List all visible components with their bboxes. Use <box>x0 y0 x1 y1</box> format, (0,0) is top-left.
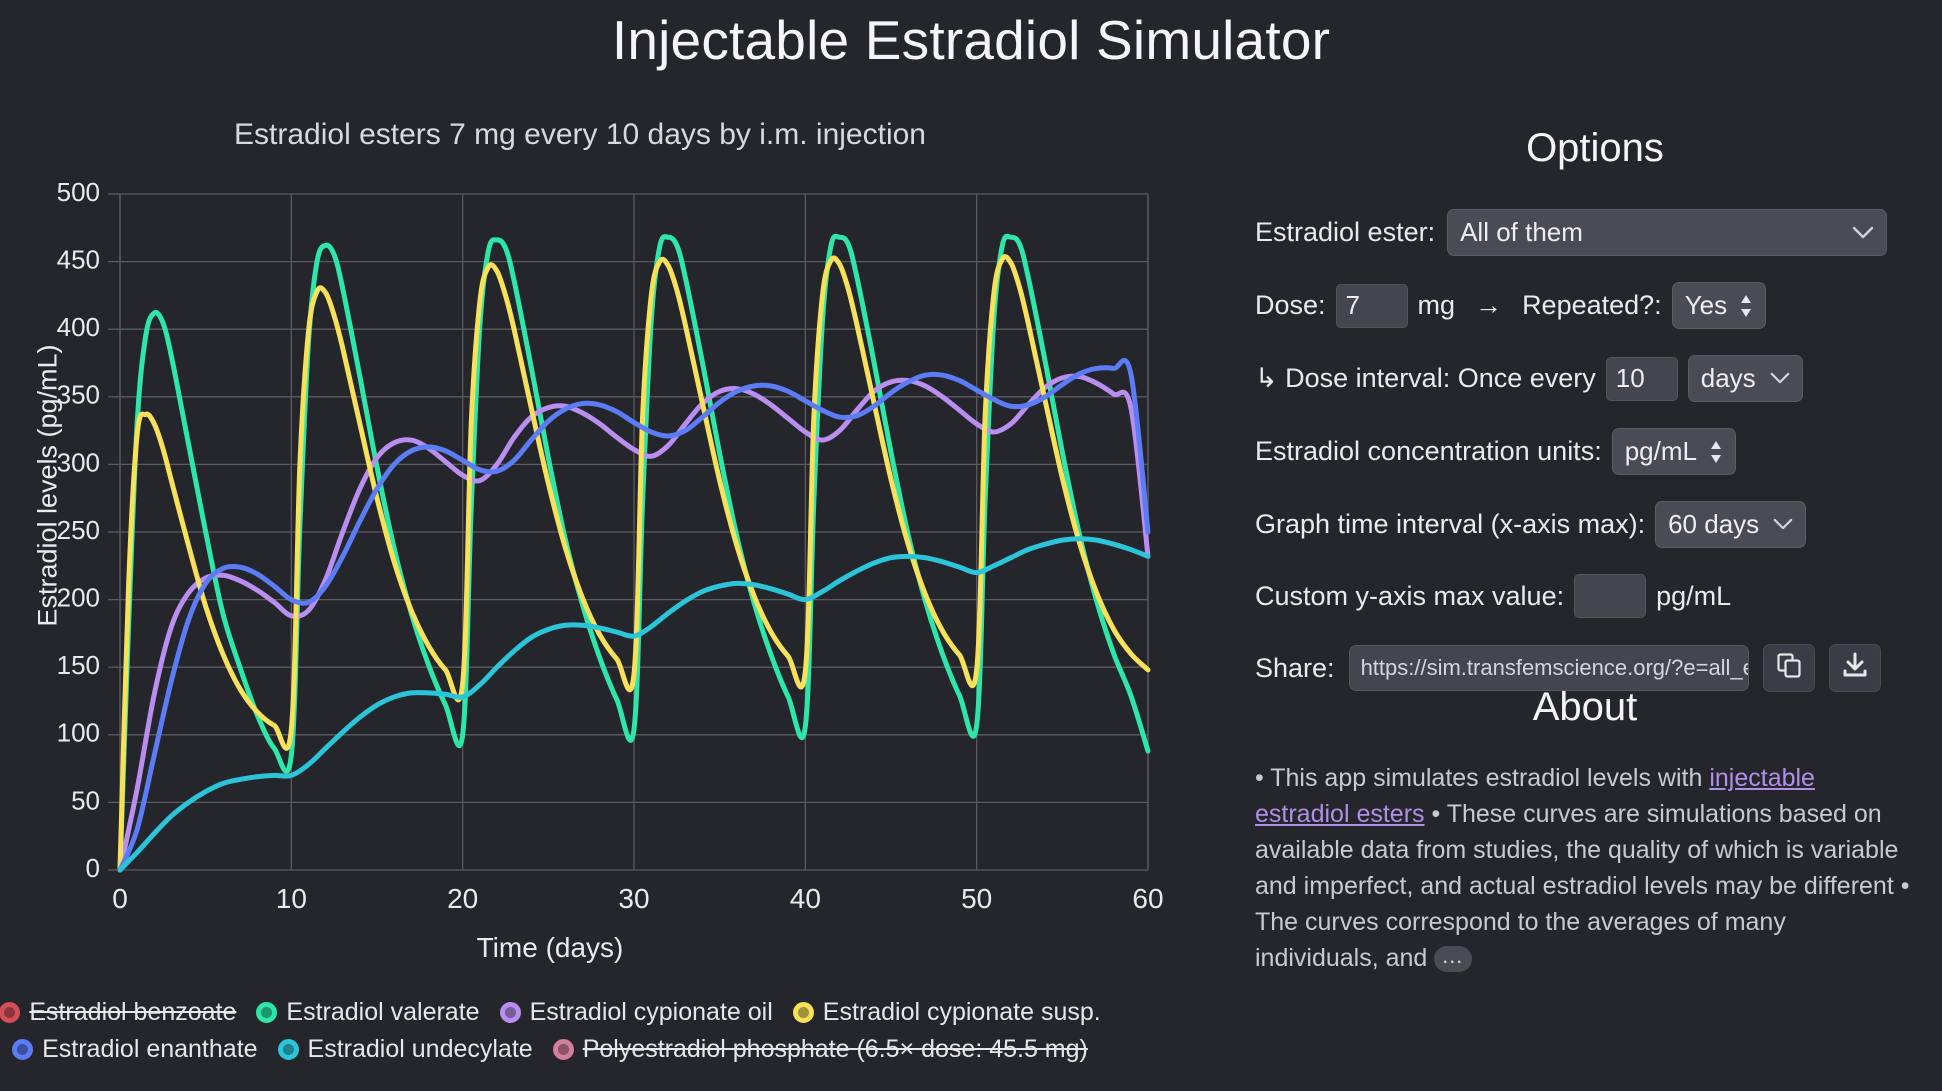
dose-interval-input[interactable] <box>1606 357 1678 401</box>
svg-text:0: 0 <box>86 853 100 883</box>
custom-ymax-label: Custom y-axis max value: <box>1255 581 1564 612</box>
svg-text:0: 0 <box>112 883 128 914</box>
legend-item[interactable]: Estradiol valerate <box>256 998 479 1027</box>
legend-color-dot <box>553 1039 574 1060</box>
legend-item[interactable]: Polyestradiol phosphate (6.5× dose: 45.5… <box>553 1035 1088 1064</box>
svg-text:60: 60 <box>1132 883 1163 914</box>
repeated-value: Yes <box>1685 290 1727 321</box>
about-heading: About <box>1255 685 1915 730</box>
about-text-part1: • This app simulates estradiol levels wi… <box>1255 764 1709 792</box>
chevron-down-icon <box>1773 518 1793 531</box>
legend-color-dot <box>793 1002 814 1023</box>
dose-row: Dose: mg → Repeated?: Yes <box>1255 282 1935 329</box>
legend-item-label: Estradiol benzoate <box>29 998 236 1027</box>
legend-color-dot <box>0 1002 20 1023</box>
legend-item-label: Estradiol cypionate oil <box>530 998 773 1027</box>
legend-color-dot <box>256 1002 277 1023</box>
chart-panel: Estradiol esters 7 mg every 10 days by i… <box>0 118 1180 1018</box>
estradiol-levels-chart: 050100150200250300350400450500 010203040… <box>0 170 1180 930</box>
y-axis-label: Estradiol levels (pg/mL) <box>33 176 64 796</box>
legend-item[interactable]: Estradiol undecylate <box>278 1035 533 1064</box>
svg-text:50: 50 <box>71 785 100 815</box>
concentration-units-label: Estradiol concentration units: <box>1255 436 1602 467</box>
dose-unit-label: mg <box>1418 290 1456 321</box>
legend-item[interactable]: Estradiol enanthate <box>12 1035 257 1064</box>
chevron-down-icon <box>1852 226 1874 240</box>
legend-color-dot <box>278 1039 299 1060</box>
legend-item-label: Polyestradiol phosphate (6.5× dose: 45.5… <box>583 1035 1088 1064</box>
show-more-button[interactable]: … <box>1434 946 1472 972</box>
dose-interval-label: ↳ Dose interval: Once every <box>1255 363 1596 394</box>
graph-time-interval-row: Graph time interval (x-axis max): 60 day… <box>1255 501 1935 548</box>
ester-row: Estradiol ester: All of them <box>1255 209 1935 256</box>
x-axis-label: Time (days) <box>0 932 1100 964</box>
concentration-units-value: pg/mL <box>1625 436 1697 467</box>
svg-text:20: 20 <box>447 883 478 914</box>
dose-interval-unit-select[interactable]: days <box>1688 355 1803 402</box>
graph-time-interval-label: Graph time interval (x-axis max): <box>1255 509 1645 540</box>
dose-arrow-icon: → <box>1475 290 1502 321</box>
ester-label: Estradiol ester: <box>1255 217 1435 248</box>
chart-legend: Estradiol benzoateEstradiol valerateEstr… <box>0 998 1100 1072</box>
legend-color-dot <box>500 1002 521 1023</box>
custom-ymax-row: Custom y-axis max value: pg/mL <box>1255 574 1935 618</box>
download-icon <box>1841 651 1869 686</box>
plot-area: 050100150200250300350400450500 010203040… <box>0 170 1180 850</box>
options-panel: Options Estradiol ester: All of them Dos… <box>1255 126 1935 718</box>
svg-text:40: 40 <box>790 883 821 914</box>
legend-item[interactable]: Estradiol cypionate oil <box>500 998 773 1027</box>
svg-text:10: 10 <box>276 883 307 914</box>
legend-item[interactable]: Estradiol cypionate susp. <box>793 998 1101 1027</box>
repeated-select[interactable]: Yes <box>1672 282 1766 329</box>
svg-text:50: 50 <box>961 883 992 914</box>
svg-text:30: 30 <box>618 883 649 914</box>
legend-item-label: Estradiol enanthate <box>42 1035 257 1064</box>
share-label: Share: <box>1255 653 1335 684</box>
estradiol-ester-value: All of them <box>1460 217 1583 248</box>
legend-item-label: Estradiol undecylate <box>308 1035 533 1064</box>
legend-color-dot <box>12 1039 33 1060</box>
legend-row: Estradiol benzoateEstradiol valerateEstr… <box>0 998 1100 1027</box>
spinner-arrows-icon <box>1709 439 1723 465</box>
legend-item-label: Estradiol valerate <box>286 998 479 1027</box>
chevron-down-icon <box>1770 372 1790 385</box>
graph-time-interval-select[interactable]: 60 days <box>1655 501 1806 548</box>
about-panel: About • This app simulates estradiol lev… <box>1255 685 1915 976</box>
spinner-arrows-icon <box>1739 293 1753 319</box>
legend-item[interactable]: Estradiol benzoate <box>0 998 236 1027</box>
legend-item-label: Estradiol cypionate susp. <box>823 998 1101 1027</box>
x-axis-ticks: 0102030405060 <box>112 883 1163 914</box>
concentration-units-select[interactable]: pg/mL <box>1612 428 1736 475</box>
legend-row: Estradiol enanthateEstradiol undecylateP… <box>0 1035 1100 1064</box>
dose-input[interactable] <box>1336 284 1408 328</box>
options-heading: Options <box>1255 126 1935 171</box>
app-root: Injectable Estradiol Simulator Estradiol… <box>0 0 1942 1091</box>
custom-ymax-input[interactable] <box>1574 574 1646 618</box>
estradiol-ester-select[interactable]: All of them <box>1447 209 1887 256</box>
dose-interval-row: ↳ Dose interval: Once every days <box>1255 355 1935 402</box>
about-body: • This app simulates estradiol levels wi… <box>1255 760 1915 976</box>
chart-title: Estradiol esters 7 mg every 10 days by i… <box>0 118 1180 152</box>
custom-ymax-unit-label: pg/mL <box>1656 581 1731 612</box>
repeated-label: Repeated?: <box>1522 290 1662 321</box>
dose-label: Dose: <box>1255 290 1326 321</box>
concentration-units-row: Estradiol concentration units: pg/mL <box>1255 428 1935 475</box>
graph-time-interval-value: 60 days <box>1668 509 1759 540</box>
page-title: Injectable Estradiol Simulator <box>0 8 1942 72</box>
dose-interval-unit-value: days <box>1701 363 1756 394</box>
copy-icon <box>1775 651 1803 686</box>
